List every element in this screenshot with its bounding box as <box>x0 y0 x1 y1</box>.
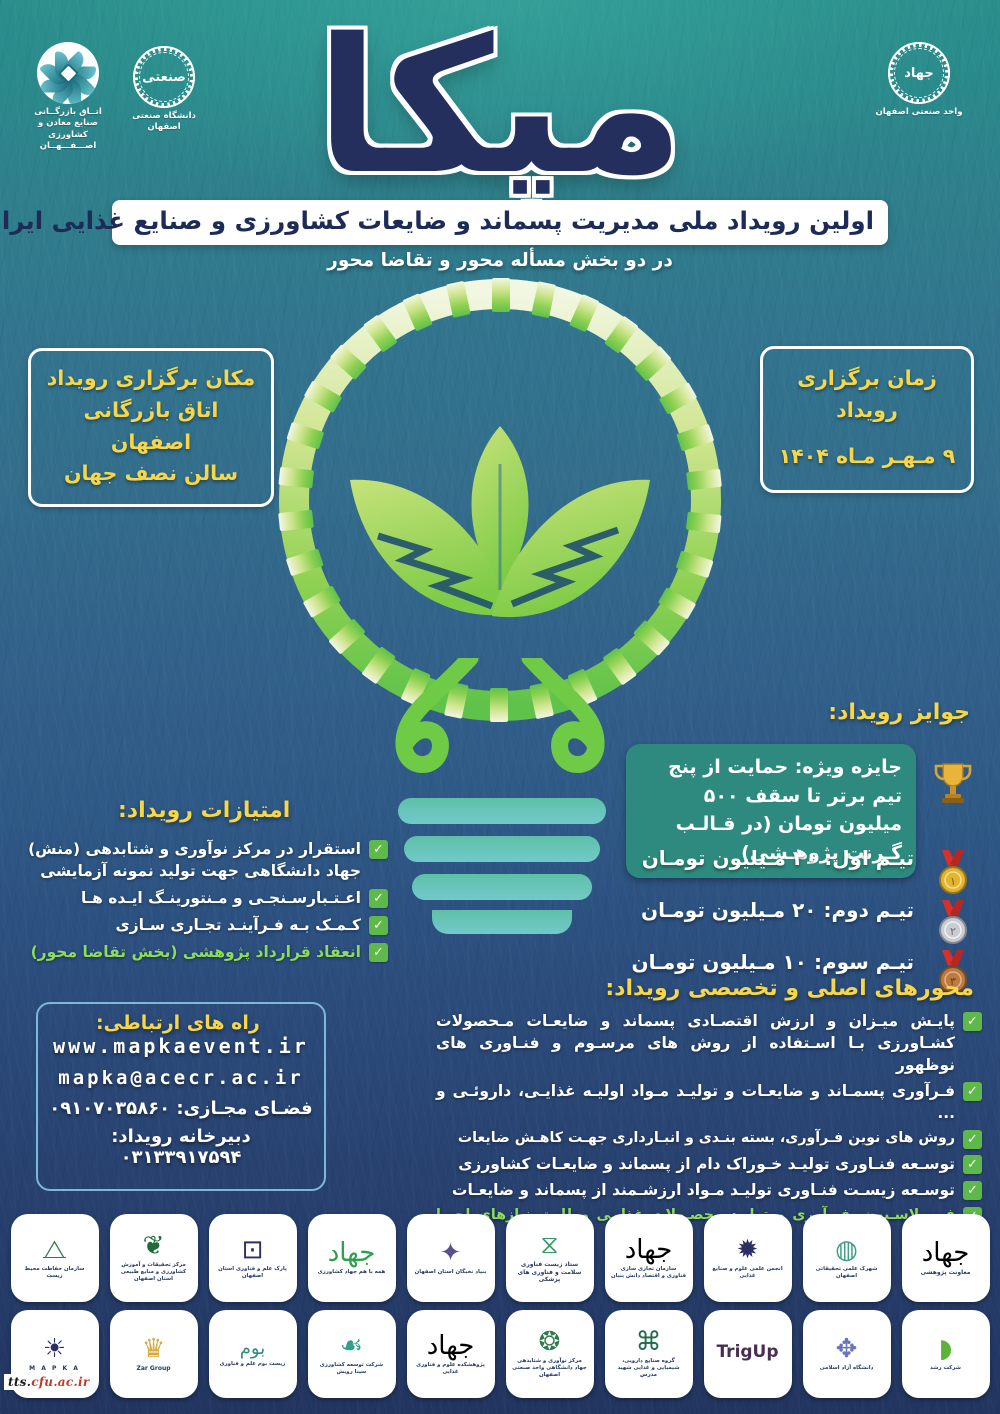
sponsor-glyph: ⊡ <box>242 1237 264 1263</box>
check-icon: ✓ <box>369 889 388 908</box>
perk-label: کـمـک بـه فـرآینـد تجـاری سـازی <box>22 914 361 936</box>
check-icon: ✓ <box>369 916 388 935</box>
list-item: ✓ توسـعه فنـاوری تولیـد خـوراک دام از پس… <box>436 1153 982 1175</box>
sponsor-caption: پارک علم و فناوری استان اصفهان <box>211 1266 295 1280</box>
sponsor-glyph: ✹ <box>737 1237 759 1263</box>
check-icon: ✓ <box>963 1181 982 1200</box>
sponsor-logo: ☙شرکت توسعه کشاورزی سینا رویش <box>308 1310 396 1398</box>
sponsor-caption: شرکت رشد <box>926 1365 965 1372</box>
sponsor-logo: ⌘گروه صنایع دارویی، شیمیایی و غذایی شهید… <box>605 1310 693 1398</box>
check-icon: ✓ <box>369 840 388 859</box>
sponsor-logo: ⧖ستاد زیست فناوری سلامت و فناوری های پزش… <box>506 1214 594 1302</box>
bulb-base-icon <box>398 798 606 938</box>
sponsor-glyph: جهاد <box>427 1333 475 1359</box>
sponsor-caption: دانشگاه آزاد اسلامی <box>816 1365 878 1372</box>
sponsor-glyph: ⌘ <box>636 1329 662 1355</box>
sponsor-logo: جهادپژوهشکده علوم و فناوری غذایی <box>407 1310 495 1398</box>
sponsor-glyph: ☀ <box>43 1336 66 1362</box>
sponsor-caption: همه با هم جهاد کشاورزی <box>314 1269 390 1276</box>
perk-label: استقرار در مرکز نوآوری و شتابدهی (منش) ج… <box>22 838 361 882</box>
poster-root: اتــاق بازرگــانی صنایع معادن و کشاورزی … <box>0 0 1000 1414</box>
website-link[interactable]: www.mapkaevent.ir <box>48 1034 314 1058</box>
sponsor-glyph: ◍ <box>835 1237 858 1263</box>
sponsor-logo: ❂مرکز نوآوری و شتابدهی جهاد دانشگاهی واح… <box>506 1310 594 1398</box>
axis-label: توسـعه فنـاوری تولیـد خـوراک دام از پسما… <box>436 1153 955 1175</box>
list-item: ✓ اعـتـبارسـنجـی و مـنتورینـگ ایـده هـا <box>22 887 388 909</box>
sponsor-caption: بنیاد نخبگان استان اصفهان <box>411 1269 491 1276</box>
venue-line-1: مکان برگزاری رویداد <box>41 363 261 395</box>
sponsor-row-1: جهادمعاونت پژوهشی ◍شهرک علمی تحقیقاتی اص… <box>0 1214 1000 1302</box>
sponsor-caption: معاونت پژوهشی <box>917 1269 975 1277</box>
watermark-text: cfu.ac.ir <box>31 1375 89 1389</box>
axis-label: پایـش میـزان و ارزش اقتصـادی پسماند و ضا… <box>436 1010 955 1076</box>
silver-medal-icon: ۲ <box>930 898 976 946</box>
sponsor-caption: زیست بوم علم و فناوری <box>216 1361 290 1368</box>
prizes-heading: جوایز رویداد: <box>828 700 970 725</box>
sponsor-glyph: TrigUp <box>716 1344 778 1361</box>
perks-list: ✓ استقرار در مرکز نوآوری و شتابدهی (منش)… <box>22 838 388 968</box>
list-item: ✓ فـرآوری پسمـاند و ضایعـات و تولیـد مـو… <box>436 1080 982 1124</box>
prize-rank-3: تیـم سوم: ۱۰ مـیلیون تومـان <box>624 950 914 974</box>
date-box: زمان برگزاری رویداد ۹ مـهـر مـاه ۱۴۰۴ <box>760 346 974 493</box>
sponsor-logo-zar-group: ♛Zar Group <box>110 1310 198 1398</box>
sponsor-glyph: ✥ <box>836 1336 858 1362</box>
sponsor-caption: مرکز تحقیقات و آموزش کشاورزی و منابع طبی… <box>112 1262 196 1282</box>
prize-rank-1: تیـم اول: ۳۰ مـیلیون تومـان <box>624 846 914 870</box>
sponsor-logo: ❦مرکز تحقیقات و آموزش کشاورزی و منابع طب… <box>110 1214 198 1302</box>
watermark-prefix: tts. <box>8 1375 31 1389</box>
check-icon: ✓ <box>963 1130 982 1149</box>
sponsor-glyph: جهاد <box>328 1240 376 1266</box>
sponsor-logo: جهادهمه با هم جهاد کشاورزی <box>308 1214 396 1302</box>
page-subtitle: در دو بخش مسأله محور و تقاضا محور <box>0 250 1000 271</box>
event-wordmark: مپکا <box>0 14 1000 200</box>
sponsor-logo: ◗شرکت رشد <box>902 1310 990 1398</box>
sponsor-caption: پژوهشکده علوم و فناوری غذایی <box>409 1362 493 1376</box>
sponsor-caption: سازمان حفاظت محیط زیست <box>13 1266 97 1280</box>
source-watermark: tts.cfu.ac.ir <box>4 1374 93 1390</box>
sponsor-caption: سازمان تجاری سازی فناوری و اقتصاد دانش ب… <box>607 1266 691 1280</box>
sponsor-glyph: ⧖ <box>540 1232 558 1258</box>
social-phone: فضـای مجـازی: ۰۹۱۰۷۰۳۵۸۶۰ <box>48 1098 314 1119</box>
sponsor-glyph: ♛ <box>142 1336 165 1362</box>
list-item: ✓ کـمـک بـه فـرآینـد تجـاری سـازی <box>22 914 388 936</box>
svg-text:۱: ۱ <box>950 875 956 888</box>
sponsor-glyph: ✦ <box>440 1240 462 1266</box>
sponsor-logo: ⊡پارک علم و فناوری استان اصفهان <box>209 1214 297 1302</box>
sponsor-glyph: جهاد <box>625 1237 673 1263</box>
list-item: ✓ انعقاد قرارداد پژوهشی (بخش تقاضا محور) <box>22 941 388 963</box>
sponsor-glyph: ❦ <box>143 1233 165 1259</box>
sponsor-logo: بومزیست بوم علم و فناوری <box>209 1310 297 1398</box>
sponsor-logo: جهادسازمان تجاری سازی فناوری و اقتصاد دا… <box>605 1214 693 1302</box>
page-title: اولین رویداد ملی مدیریت پسماند و ضایعات … <box>112 200 888 245</box>
sponsor-logo: جهادمعاونت پژوهشی <box>902 1214 990 1302</box>
check-icon: ✓ <box>963 1155 982 1174</box>
sponsor-caption: شرکت توسعه کشاورزی سینا رویش <box>310 1362 394 1376</box>
list-item: ✓ توسـعه زیسـت فنـاوری تولیـد مـواد ارزش… <box>436 1179 982 1201</box>
sponsor-logo: ✥دانشگاه آزاد اسلامی <box>803 1310 891 1398</box>
perk-label: انعقاد قرارداد پژوهشی (بخش تقاضا محور) <box>22 941 361 963</box>
venue-line-2: اتاق بازرگانی اصفهان <box>41 395 261 459</box>
sponsor-glyph: ❂ <box>539 1329 561 1355</box>
svg-text:۲: ۲ <box>950 925 956 938</box>
sponsor-caption: M A P K A <box>25 1365 84 1373</box>
sponsor-caption: مرکز نوآوری و شتابدهی جهاد دانشگاهی واحد… <box>508 1358 592 1378</box>
secretariat-phone: دبیرخانه رویداد: ۰۳۱۳۳۹۱۷۵۹۴ <box>48 1126 314 1168</box>
sponsor-glyph: بوم <box>240 1340 265 1358</box>
sponsor-logo-strips: جهادمعاونت پژوهشی ◍شهرک علمی تحقیقاتی اص… <box>0 1214 1000 1414</box>
venue-box: مکان برگزاری رویداد اتاق بازرگانی اصفهان… <box>28 348 274 507</box>
sponsor-glyph: ☙ <box>340 1333 363 1359</box>
gold-medal-icon: ۱ <box>930 848 976 896</box>
list-item: ✓ پایـش میـزان و ارزش اقتصـادی پسماند و … <box>436 1010 982 1076</box>
check-icon: ✓ <box>369 943 388 962</box>
check-icon: ✓ <box>963 1012 982 1031</box>
seal-glyph: جهاد <box>904 67 934 80</box>
list-item: ✓ روش های نوین فـرآوری، بسته بنـدی و انب… <box>436 1128 982 1149</box>
sponsor-logo: ✹انجمن علمی علوم و صنایع غذایی <box>704 1214 792 1302</box>
sponsor-caption: Zar Group <box>132 1365 174 1373</box>
list-item: ✓ استقرار در مرکز نوآوری و شتابدهی (منش)… <box>22 838 388 882</box>
axes-heading: محورهای اصلی و تخصصی رویداد: <box>605 976 974 1001</box>
sponsor-caption: انجمن علمی علوم و صنایع غذایی <box>706 1266 790 1280</box>
date-line-1: زمان برگزاری رویداد <box>775 363 959 427</box>
perk-label: اعـتـبارسـنجـی و مـنتورینـگ ایـده هـا <box>22 887 361 909</box>
trophy-icon <box>930 760 976 806</box>
sponsor-row-2: ◗شرکت رشد ✥دانشگاه آزاد اسلامی TrigUp ⌘گ… <box>0 1310 1000 1398</box>
sponsor-logo-trigup: TrigUp <box>704 1310 792 1398</box>
axis-label: توسـعه زیسـت فنـاوری تولیـد مـواد ارزشـم… <box>436 1179 955 1201</box>
axis-label: فـرآوری پسمـاند و ضایعـات و تولیـد مـواد… <box>436 1080 955 1124</box>
axis-label: روش های نوین فـرآوری، بسته بنـدی و انبـا… <box>436 1128 955 1148</box>
sponsor-caption: ستاد زیست فناوری سلامت و فناوری های پزشک… <box>508 1261 592 1284</box>
sponsor-caption: شهرک علمی تحقیقاتی اصفهان <box>805 1266 889 1280</box>
venue-line-3: سالن نصف جهان <box>41 458 261 490</box>
date-line-2: ۹ مـهـر مـاه ۱۴۰۴ <box>775 441 959 473</box>
contact-heading: راه های ارتباطی: <box>96 1012 260 1034</box>
sponsor-glyph: ◗ <box>939 1336 953 1362</box>
seal-glyph: صنعتی <box>142 71 186 84</box>
check-icon: ✓ <box>963 1082 982 1101</box>
sponsor-caption: گروه صنایع دارویی، شیمیایی و غذایی شهید … <box>607 1358 691 1378</box>
sponsor-logo: ⧍سازمان حفاظت محیط زیست <box>11 1214 99 1302</box>
sponsor-glyph: ⧍ <box>42 1237 66 1263</box>
sponsor-logo: ✦بنیاد نخبگان استان اصفهان <box>407 1214 495 1302</box>
prize-rank-2: تیـم دوم: ۲۰ مـیلیون تومـان <box>624 898 914 922</box>
sponsor-logo: ◍شهرک علمی تحقیقاتی اصفهان <box>803 1214 891 1302</box>
sponsor-glyph: جهاد <box>922 1240 970 1266</box>
email-link[interactable]: mapka@acecr.ac.ir <box>48 1067 314 1089</box>
perks-heading: امتیازات رویداد: <box>118 798 290 823</box>
